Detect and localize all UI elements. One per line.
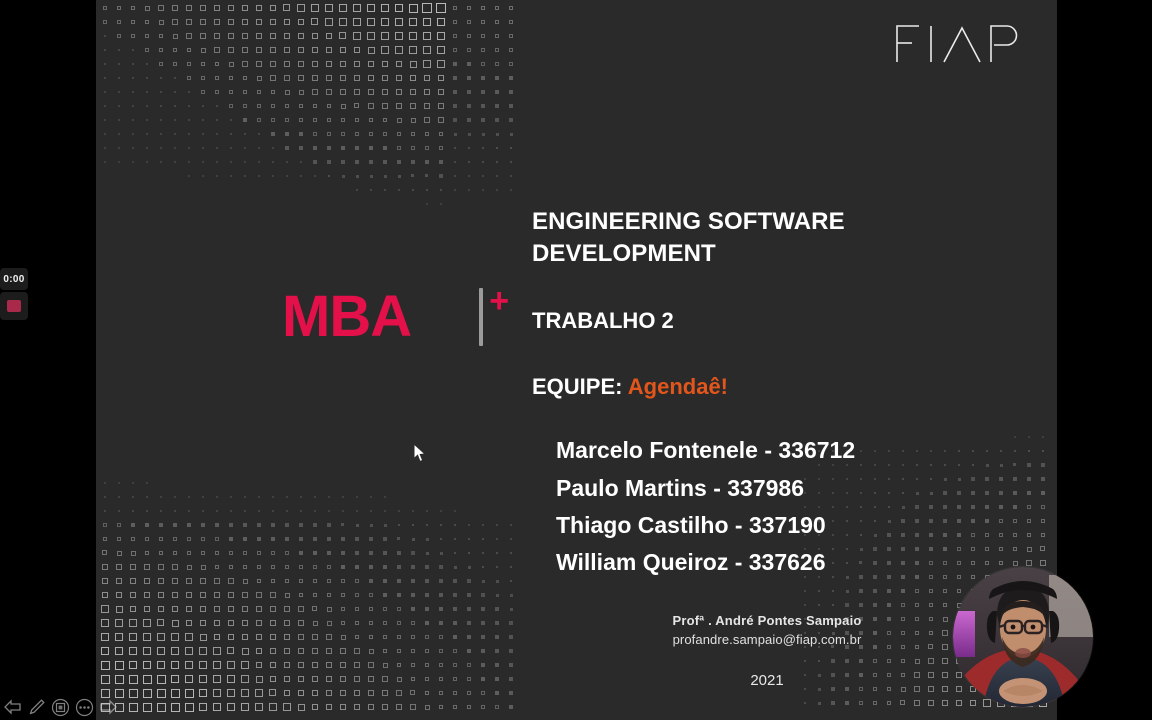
team-label: EQUIPE: <box>532 374 622 399</box>
slide-year: 2021 <box>532 672 1002 689</box>
slide-credits: Profª . André Pontes Sampaio profandre.s… <box>532 613 1002 689</box>
list-item: Marcelo Fontenele - 336712 <box>556 432 1002 469</box>
list-item: William Queiroz - 337626 <box>556 544 1002 581</box>
team-line: EQUIPE: Agendaê! <box>532 374 1002 400</box>
list-item: Paulo Martins - 337986 <box>556 470 1002 507</box>
laser-pointer-icon[interactable] <box>50 697 71 717</box>
mouse-cursor <box>413 443 427 468</box>
mba-plus-superscript: + <box>489 284 509 318</box>
more-options-icon[interactable] <box>74 697 95 717</box>
next-slide-arrow-icon[interactable] <box>98 697 119 717</box>
list-item: Thiago Castilho - 337190 <box>556 507 1002 544</box>
pen-annotate-icon[interactable] <box>26 697 47 717</box>
stop-recording-button[interactable] <box>0 292 28 320</box>
fiap-logo <box>895 22 1019 64</box>
stop-square-icon <box>7 300 21 312</box>
recording-timer: 0:00 <box>0 268 28 290</box>
decorative-square-grid-bottom-left <box>96 460 526 720</box>
logo-divider <box>479 288 483 346</box>
page-title: ENGINEERING SOFTWARE DEVELOPMENT <box>532 206 1002 269</box>
presentation-slide: MBA + ENGINEERING SOFTWARE DEVELOPMENT T… <box>96 0 1057 720</box>
recording-controls: 0:00 <box>0 268 30 320</box>
decorative-square-grid-top-left <box>96 0 516 220</box>
team-member-list: Marcelo Fontenele - 336712 Paulo Martins… <box>532 432 1002 581</box>
slide-text-column: ENGINEERING SOFTWARE DEVELOPMENT TRABALH… <box>532 206 1002 581</box>
professor-email: profandre.sampaio@fiap.com.br <box>532 632 1002 647</box>
mba-wordmark: MBA <box>282 288 411 346</box>
presenter-camera[interactable] <box>953 567 1093 707</box>
team-name: Agendaê! <box>628 374 728 399</box>
assignment-label: TRABALHO 2 <box>532 308 1002 334</box>
presenter-toolbar <box>2 696 119 718</box>
professor-name: Profª . André Pontes Sampaio <box>532 613 1002 628</box>
mba-plus-logo: MBA + <box>282 288 483 346</box>
previous-slide-arrow-icon[interactable] <box>2 697 23 717</box>
